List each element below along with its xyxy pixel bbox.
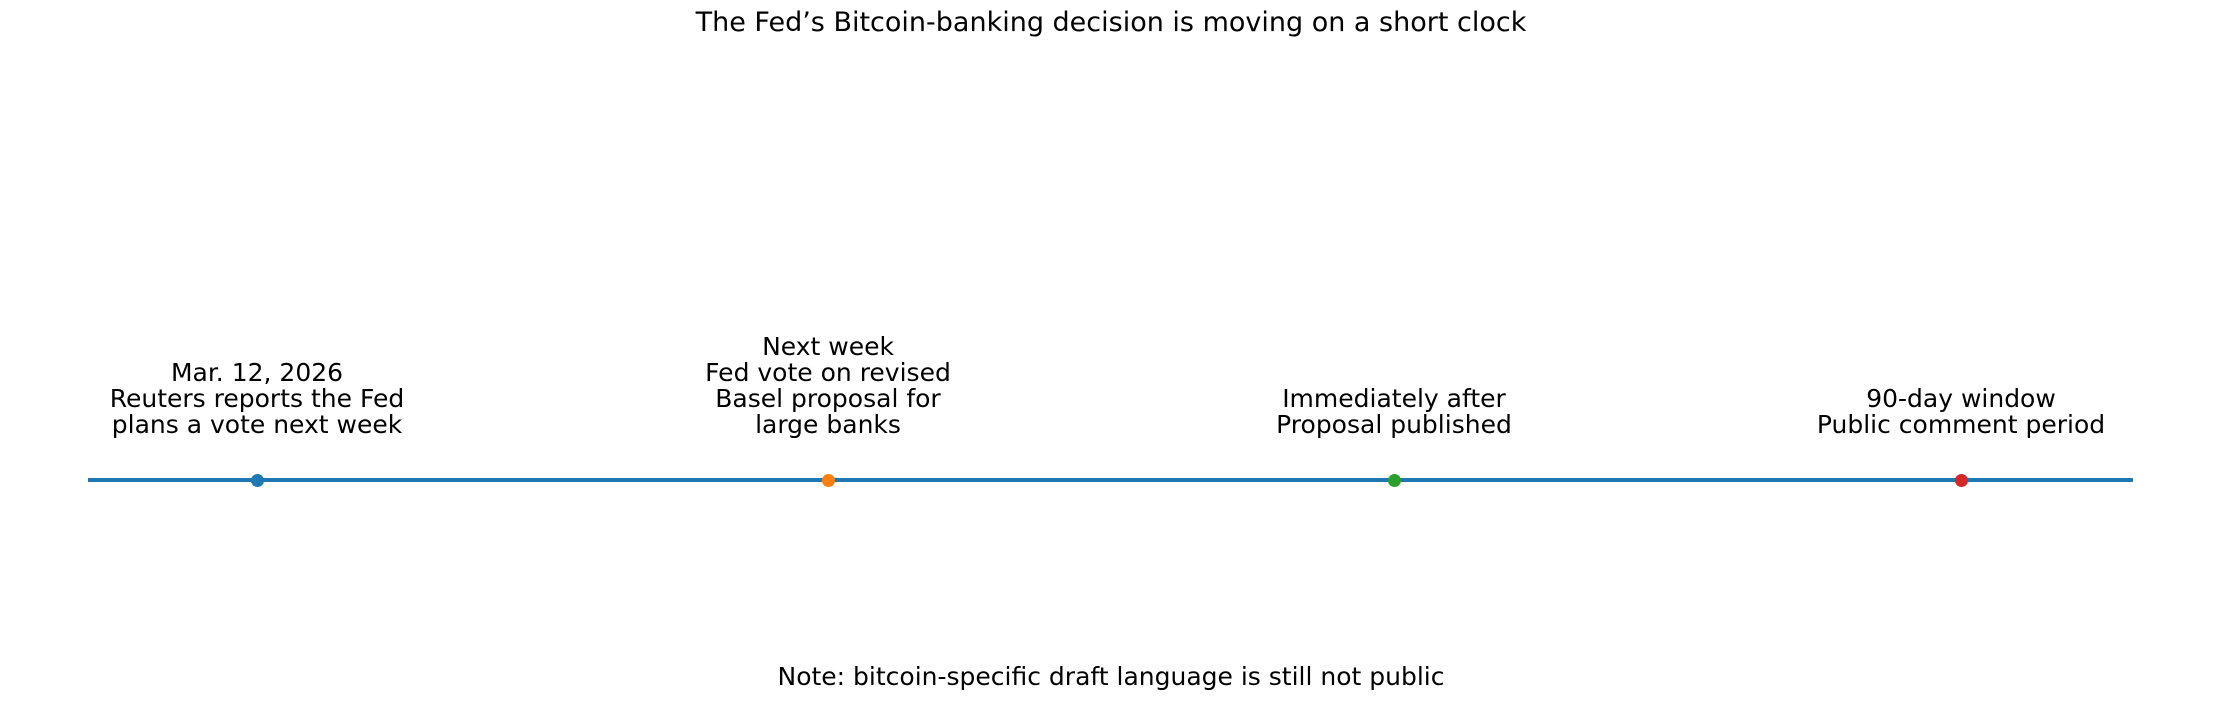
milestone-label: 90-day windowPublic comment period: [1701, 386, 2221, 438]
milestone-event-line: Fed vote on revised: [568, 360, 1088, 386]
milestone-event-line: Proposal published: [1134, 412, 1654, 438]
timeline-milestone: Immediately afterProposal published: [1134, 0, 1654, 480]
chart-note: Note: bitcoin-specific draft language is…: [0, 662, 2222, 691]
milestone-date: Next week: [568, 334, 1088, 360]
milestone-date: 90-day window: [1701, 386, 2221, 412]
timeline-milestone: Mar. 12, 2026Reuters reports the Fedplan…: [0, 0, 517, 480]
milestone-date: Mar. 12, 2026: [0, 360, 517, 386]
milestone-event-line: plans a vote next week: [0, 412, 517, 438]
timeline-chart: The Fed’s Bitcoin-banking decision is mo…: [0, 0, 2222, 724]
timeline-milestone: Next weekFed vote on revisedBasel propos…: [568, 0, 1088, 480]
timeline-milestone: 90-day windowPublic comment period: [1701, 0, 2221, 480]
milestone-label: Immediately afterProposal published: [1134, 386, 1654, 438]
milestone-event-line: large banks: [568, 412, 1088, 438]
timeline-axis-line: [88, 478, 2133, 482]
milestone-event-line: Public comment period: [1701, 412, 2221, 438]
milestone-label: Next weekFed vote on revisedBasel propos…: [568, 334, 1088, 438]
milestone-event-line: Reuters reports the Fed: [0, 386, 517, 412]
chart-title: The Fed’s Bitcoin-banking decision is mo…: [0, 0, 2222, 46]
milestone-event-line: Basel proposal for: [568, 386, 1088, 412]
milestone-date: Immediately after: [1134, 386, 1654, 412]
milestone-label: Mar. 12, 2026Reuters reports the Fedplan…: [0, 360, 517, 438]
